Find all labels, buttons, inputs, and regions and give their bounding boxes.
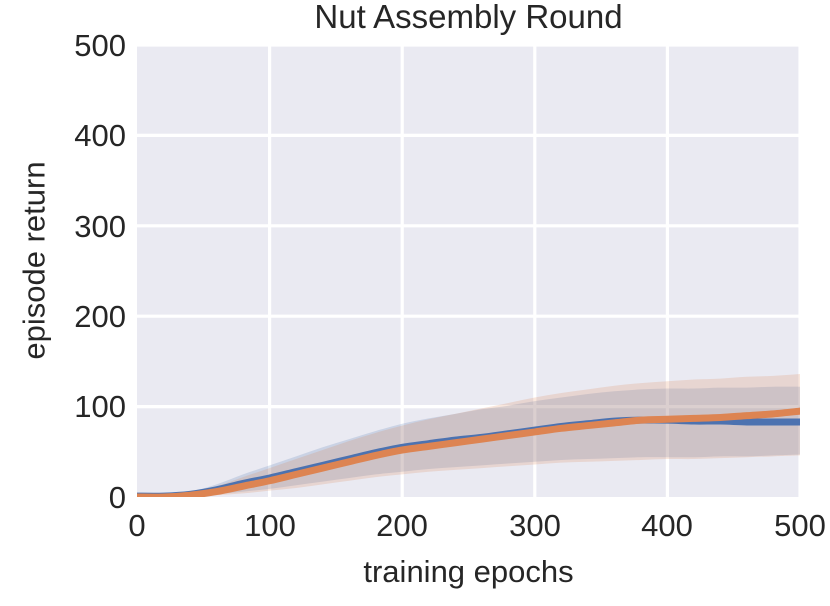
y-axis-label: episode return (19, 96, 50, 426)
chart-title: Nut Assembly Round (137, 0, 800, 36)
y-tick-label: 0 (6, 482, 126, 513)
x-tick-label: 0 (77, 510, 197, 541)
plot-canvas (137, 45, 800, 497)
chart-figure: Nut Assembly Round 500 400 300 200 100 0… (0, 0, 830, 606)
x-tick-label: 400 (607, 510, 727, 541)
x-tick-label: 200 (342, 510, 462, 541)
y-tick-label: 500 (6, 30, 126, 61)
x-tick-label: 500 (740, 510, 830, 541)
x-tick-label: 300 (475, 510, 595, 541)
x-axis-label: training epochs (137, 556, 800, 587)
x-tick-label: 100 (210, 510, 330, 541)
plot-area (137, 45, 800, 497)
